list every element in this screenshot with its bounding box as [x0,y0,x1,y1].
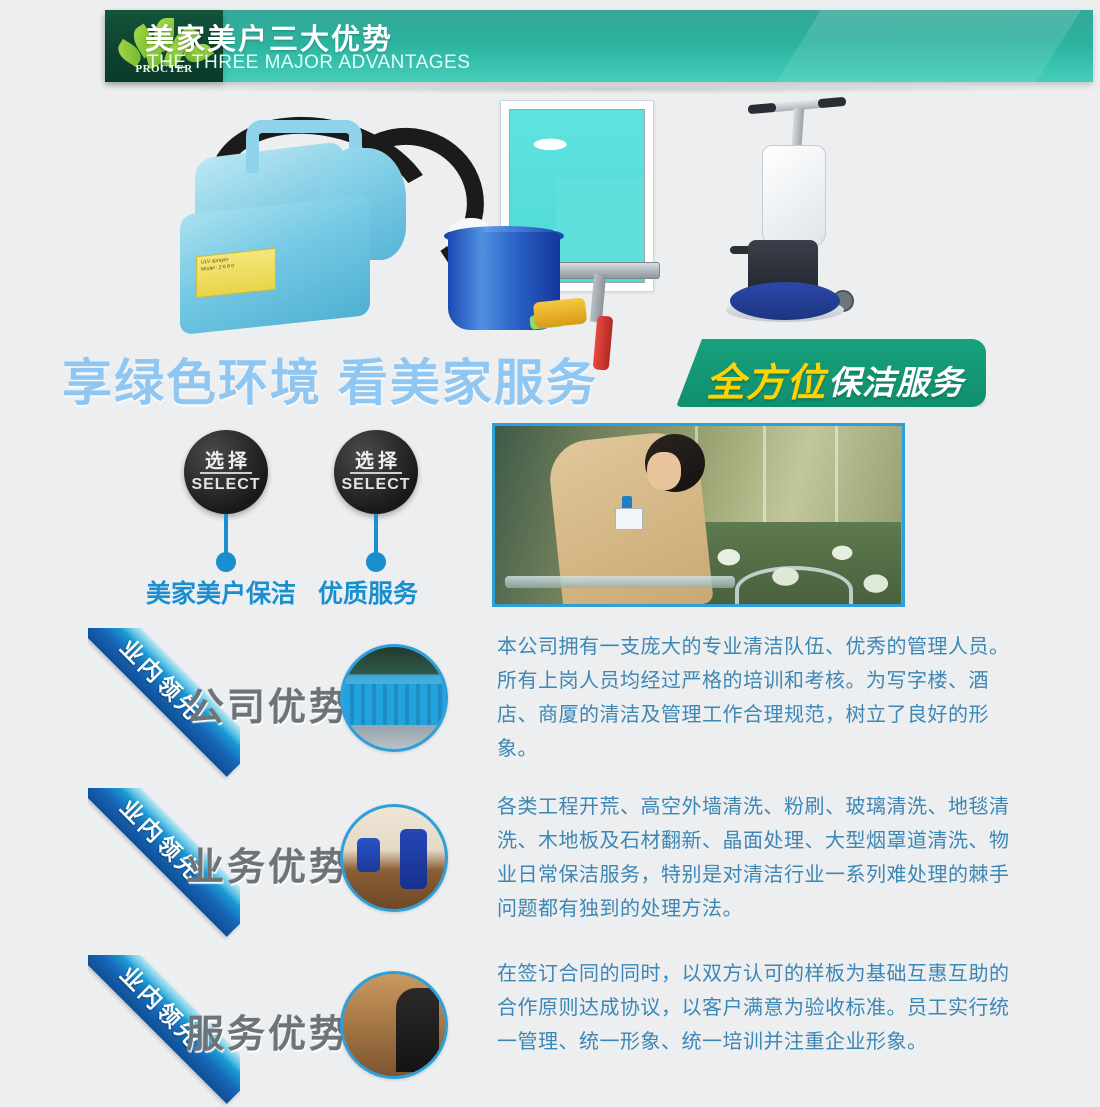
advantage-paragraph: 在签订合同的同时，以双方认可的样板为基础互惠互助的合作原则达成协议，以客户满意为… [497,957,1017,1059]
polisher-grip [818,97,847,108]
advantage-thumbnail [340,804,448,912]
select-divider [200,472,252,474]
advantage-thumbnail [340,971,448,1079]
select-pin-2-label: 优质服务 [318,574,418,610]
header-drop-shadow [180,84,1040,94]
polisher-pad-base [730,282,840,320]
select-circle: 选择 SELECT [184,430,268,514]
select-divider [350,472,402,474]
sprayer-label: ULV sprayer Model : 2 6 8 0 [196,248,276,298]
polisher-tank [762,145,826,247]
promo-page: PROCTER 美家美户三大优势 THE THREE MAJOR ADVANTA… [0,0,1100,1096]
polisher-grip [748,103,777,114]
pin-dot [366,552,386,572]
advantage-title: 业务优势 [186,836,350,891]
select-circle-en: SELECT [334,476,418,494]
select-circle: 选择 SELECT [334,430,418,514]
advantage-paragraph: 本公司拥有一支庞大的专业清洁队伍、优秀的管理人员。所有上岗人员均经过严格的培训和… [497,630,1017,766]
select-circle-cn: 选择 [184,446,268,473]
advantage-paragraph: 各类工程开荒、高空外墙清洗、粉刷、玻璃清洗、地毯清洗、木地板及石材翻新、晶面处理… [497,790,1017,926]
service-badge-highlight: 全方位 [706,352,826,408]
pin-line [224,514,228,556]
header-title-en: THE THREE MAJOR ADVANTAGES [147,52,470,74]
pin-dot [216,552,236,572]
advantage-title: 服务优势 [186,1003,350,1058]
sponge-icon [533,297,587,328]
service-badge-text: 保洁服务 [828,356,964,404]
hero-photo [492,423,905,607]
id-badge [615,508,643,530]
patio-chair [735,566,853,607]
page-header: PROCTER 美家美户三大优势 THE THREE MAJOR ADVANTA… [0,0,1100,95]
main-headline: 享绿色环境 看美家服务 [62,343,598,415]
select-circle-en: SELECT [184,476,268,494]
select-circle-cn: 选择 [334,446,418,473]
cleaner-face [647,452,681,490]
advantage-thumbnail [340,644,448,752]
advantage-title: 公司优势 [186,676,350,731]
select-pin-1-label: 美家美户保洁 [146,574,296,610]
pin-line [374,514,378,556]
squeegee-pad [556,178,644,264]
glass-table [505,576,735,588]
